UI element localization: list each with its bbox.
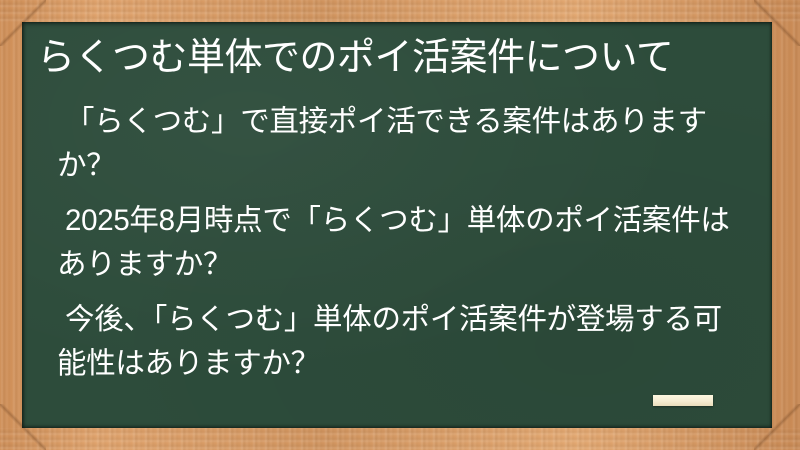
frame-grain-bottom [0,428,800,450]
chalk-eraser-icon [653,395,713,406]
slide-question-list: 「らくつむ」で直接ポイ活できる案件はありますか？ 2025年8月時点で「らくつむ… [57,100,747,386]
frame-grain-top [0,0,800,22]
chalkboard-slide: らくつむ単体でのポイ活案件について 「らくつむ」で直接ポイ活できる案件はあります… [0,0,800,450]
list-item: 今後、「らくつむ」単体のポイ活案件が登場する可能性はありますか？ [57,298,747,386]
list-item: 「らくつむ」で直接ポイ活できる案件はありますか？ [57,100,747,188]
list-item: 2025年8月時点で「らくつむ」単体のポイ活案件はありますか？ [57,199,747,287]
slide-title: らくつむ単体でのポイ活案件について [37,34,753,82]
chalkboard-surface: らくつむ単体でのポイ活案件について 「らくつむ」で直接ポイ活できる案件はあります… [22,22,772,428]
